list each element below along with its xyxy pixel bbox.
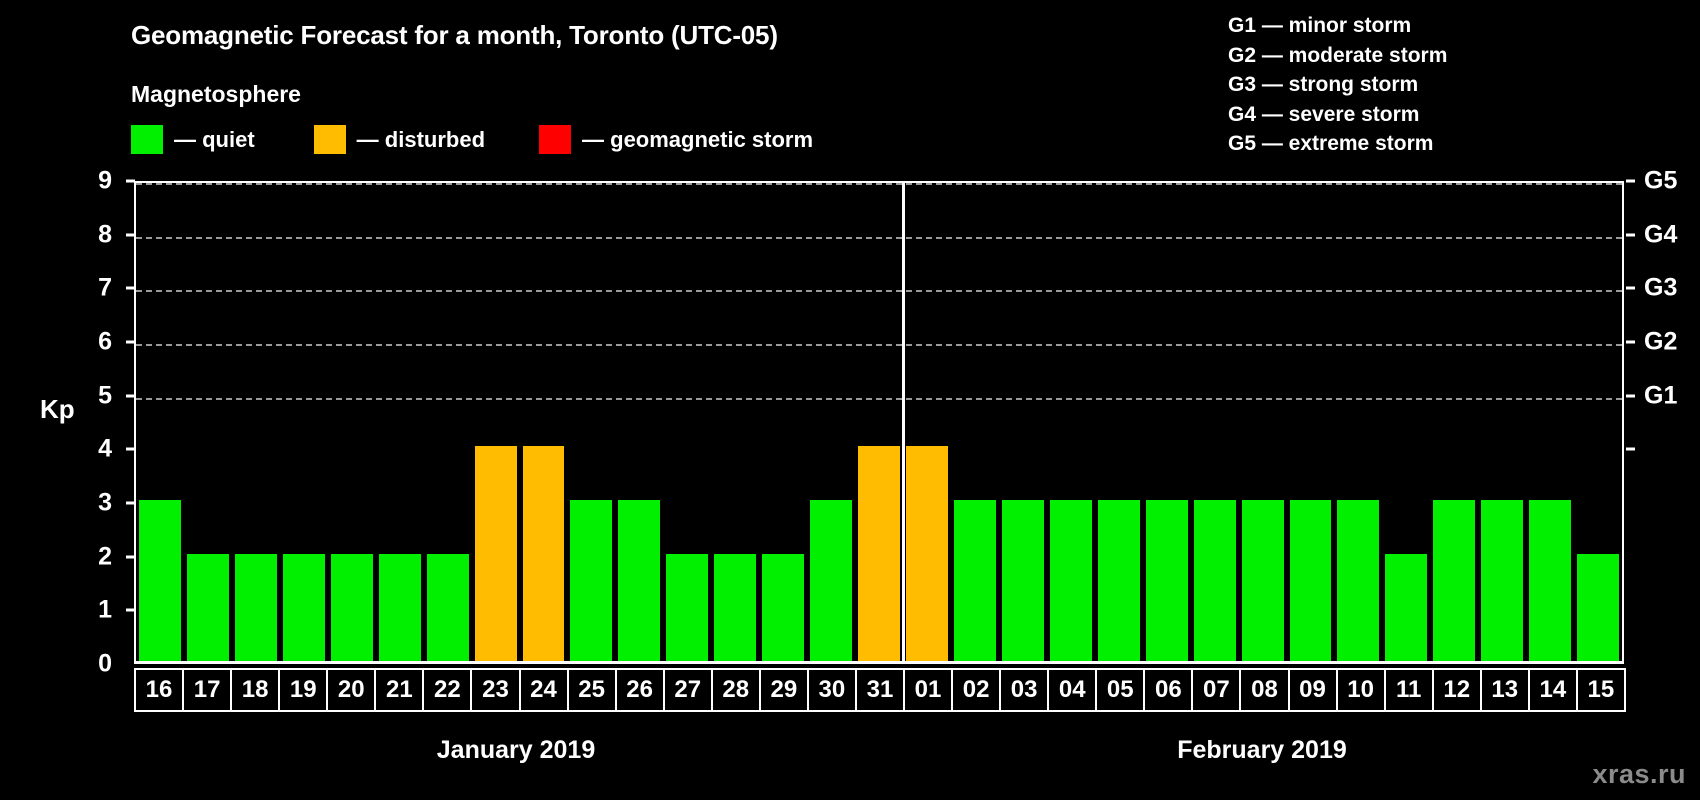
- bar-02: [954, 500, 996, 661]
- bar-21: [379, 554, 421, 661]
- bar-04: [1050, 500, 1092, 661]
- g-tick-mark-g3: [1626, 287, 1635, 290]
- date-label-01: 01: [903, 668, 953, 712]
- bar-cell: [328, 183, 376, 661]
- bar-cell: [1574, 183, 1622, 661]
- bar-cell: [1430, 183, 1478, 661]
- g-tick-mark-g4: [1626, 233, 1635, 236]
- g-legend-row-g5: G5 — extreme storm: [1228, 129, 1447, 159]
- bar-cell: [1143, 183, 1191, 661]
- bar-24: [523, 446, 565, 661]
- y-tick-mark-1: [126, 609, 135, 612]
- g-tick-mark-g2: [1626, 341, 1635, 344]
- bar-cell: [1191, 183, 1239, 661]
- bar-cell: [184, 183, 232, 661]
- date-label-28: 28: [711, 668, 761, 712]
- g-tick-label-g4: G4: [1644, 222, 1677, 247]
- y-tick-label-9: 9: [98, 169, 112, 194]
- y-tick-mark-4: [126, 448, 135, 451]
- y-tick-label-3: 3: [98, 491, 112, 516]
- date-label-21: 21: [374, 668, 424, 712]
- date-label-12: 12: [1432, 668, 1482, 712]
- date-label-24: 24: [519, 668, 569, 712]
- date-label-row: 1617181920212223242526272829303101020304…: [134, 668, 1624, 712]
- bar-15: [1577, 554, 1619, 661]
- bar-cell: [520, 183, 568, 661]
- month-divider-line: [902, 181, 905, 661]
- date-label-29: 29: [759, 668, 809, 712]
- bar-cell: [1287, 183, 1335, 661]
- bar-cell: [807, 183, 855, 661]
- bar-11: [1385, 554, 1427, 661]
- date-label-08: 08: [1239, 668, 1289, 712]
- date-label-25: 25: [567, 668, 617, 712]
- y-tick-label-4: 4: [98, 437, 112, 462]
- color-legend: — quiet— disturbed— geomagnetic storm: [131, 125, 813, 154]
- page-title: Geomagnetic Forecast for a month, Toront…: [131, 20, 778, 51]
- g-scale-legend: G1 — minor stormG2 — moderate stormG3 — …: [1228, 11, 1447, 159]
- date-label-04: 04: [1047, 668, 1097, 712]
- date-label-10: 10: [1336, 668, 1386, 712]
- bar-29: [762, 554, 804, 661]
- date-label-07: 07: [1191, 668, 1241, 712]
- bar-14: [1529, 500, 1571, 661]
- y-tick-label-0: 0: [98, 652, 112, 677]
- g-tick-mark-g5: [1626, 180, 1635, 183]
- date-label-13: 13: [1480, 668, 1530, 712]
- bar-05: [1098, 500, 1140, 661]
- legend-entry-quiet: — quiet: [131, 125, 255, 154]
- y-axis-title: Kp: [40, 394, 75, 425]
- date-label-23: 23: [470, 668, 520, 712]
- bar-cell: [136, 183, 184, 661]
- bar-cell: [903, 183, 951, 661]
- g-legend-row-g1: G1 — minor storm: [1228, 11, 1447, 41]
- y-tick-mark-8: [126, 233, 135, 236]
- y-tick-mark-7: [126, 287, 135, 290]
- bar-18: [235, 554, 277, 661]
- chart-bars: [136, 183, 1622, 661]
- bar-22: [427, 554, 469, 661]
- legend-label-disturbed: — disturbed: [357, 127, 485, 153]
- g-tick-label-g2: G2: [1644, 330, 1677, 355]
- date-label-30: 30: [807, 668, 857, 712]
- g-tick-label-g5: G5: [1644, 169, 1677, 194]
- bar-20: [331, 554, 373, 661]
- bar-cell: [424, 183, 472, 661]
- bar-31: [858, 446, 900, 661]
- bar-cell: [615, 183, 663, 661]
- y-tick-mark-3: [126, 502, 135, 505]
- g-tick-label-g3: G3: [1644, 276, 1677, 301]
- date-label-06: 06: [1143, 668, 1193, 712]
- bar-cell: [711, 183, 759, 661]
- chart-plot-area: [134, 181, 1624, 664]
- y-tick-mark-2: [126, 555, 135, 558]
- bar-03: [1002, 500, 1044, 661]
- month-caption-january: January 2019: [437, 736, 595, 765]
- date-label-02: 02: [951, 668, 1001, 712]
- legend-label-quiet: — quiet: [174, 127, 255, 153]
- date-label-31: 31: [855, 668, 905, 712]
- geomagnetic-storm-swatch-icon: [539, 125, 571, 154]
- bar-30: [810, 500, 852, 661]
- bar-26: [618, 500, 660, 661]
- legend-label-geomagnetic-storm: — geomagnetic storm: [582, 127, 813, 153]
- date-label-19: 19: [278, 668, 328, 712]
- y-tick-mark-5: [126, 394, 135, 397]
- month-caption-february: February 2019: [1177, 736, 1347, 765]
- y-tick-label-2: 2: [98, 544, 112, 569]
- bar-10: [1337, 500, 1379, 661]
- bar-28: [714, 554, 756, 661]
- g-legend-row-g4: G4 — severe storm: [1228, 100, 1447, 130]
- date-label-17: 17: [182, 668, 232, 712]
- bar-cell: [1095, 183, 1143, 661]
- date-label-05: 05: [1095, 668, 1145, 712]
- y-tick-label-7: 7: [98, 276, 112, 301]
- date-label-18: 18: [230, 668, 280, 712]
- date-label-16: 16: [134, 668, 184, 712]
- bar-cell: [759, 183, 807, 661]
- bar-08: [1242, 500, 1284, 661]
- bar-12: [1433, 500, 1475, 661]
- date-label-14: 14: [1528, 668, 1578, 712]
- date-label-15: 15: [1576, 668, 1626, 712]
- bar-cell: [1334, 183, 1382, 661]
- bar-06: [1146, 500, 1188, 661]
- date-label-22: 22: [422, 668, 472, 712]
- bar-25: [570, 500, 612, 661]
- bar-cell: [1239, 183, 1287, 661]
- y-tick-label-5: 5: [98, 383, 112, 408]
- legend-entry-disturbed: — disturbed: [314, 125, 485, 154]
- y-tick-mark-9: [126, 180, 135, 183]
- quiet-swatch-icon: [131, 125, 163, 154]
- bar-01: [906, 446, 948, 661]
- bar-09: [1290, 500, 1332, 661]
- date-label-27: 27: [663, 668, 713, 712]
- bar-19: [283, 554, 325, 661]
- date-label-09: 09: [1288, 668, 1338, 712]
- bar-cell: [376, 183, 424, 661]
- bar-cell: [663, 183, 711, 661]
- magnetosphere-label: Magnetosphere: [131, 81, 301, 108]
- bar-cell: [999, 183, 1047, 661]
- watermark: xras.ru: [1592, 759, 1686, 790]
- y-tick-label-1: 1: [98, 598, 112, 623]
- bar-cell: [951, 183, 999, 661]
- bar-27: [666, 554, 708, 661]
- bar-cell: [232, 183, 280, 661]
- bar-cell: [1526, 183, 1574, 661]
- g-legend-row-g3: G3 — strong storm: [1228, 70, 1447, 100]
- bar-07: [1194, 500, 1236, 661]
- y-tick-mark-6: [126, 341, 135, 344]
- bar-16: [139, 500, 181, 661]
- date-label-11: 11: [1384, 668, 1434, 712]
- date-label-03: 03: [999, 668, 1049, 712]
- bar-cell: [472, 183, 520, 661]
- g-axis: G1G2G3G4G5: [1626, 181, 1700, 664]
- bar-cell: [1382, 183, 1430, 661]
- g-tick-mark-g1: [1626, 394, 1635, 397]
- g-tick-mark-kp-4: [1626, 448, 1635, 451]
- date-label-20: 20: [326, 668, 376, 712]
- bar-13: [1481, 500, 1523, 661]
- g-legend-row-g2: G2 — moderate storm: [1228, 41, 1447, 71]
- y-tick-label-8: 8: [98, 222, 112, 247]
- date-label-26: 26: [615, 668, 665, 712]
- disturbed-swatch-icon: [314, 125, 346, 154]
- bar-cell: [855, 183, 903, 661]
- legend-entry-geomagnetic-storm: — geomagnetic storm: [539, 125, 813, 154]
- bar-cell: [1047, 183, 1095, 661]
- y-tick-label-6: 6: [98, 330, 112, 355]
- bar-cell: [1478, 183, 1526, 661]
- bar-cell: [280, 183, 328, 661]
- bar-cell: [567, 183, 615, 661]
- bar-23: [475, 446, 517, 661]
- bar-17: [187, 554, 229, 661]
- g-tick-label-g1: G1: [1644, 383, 1677, 408]
